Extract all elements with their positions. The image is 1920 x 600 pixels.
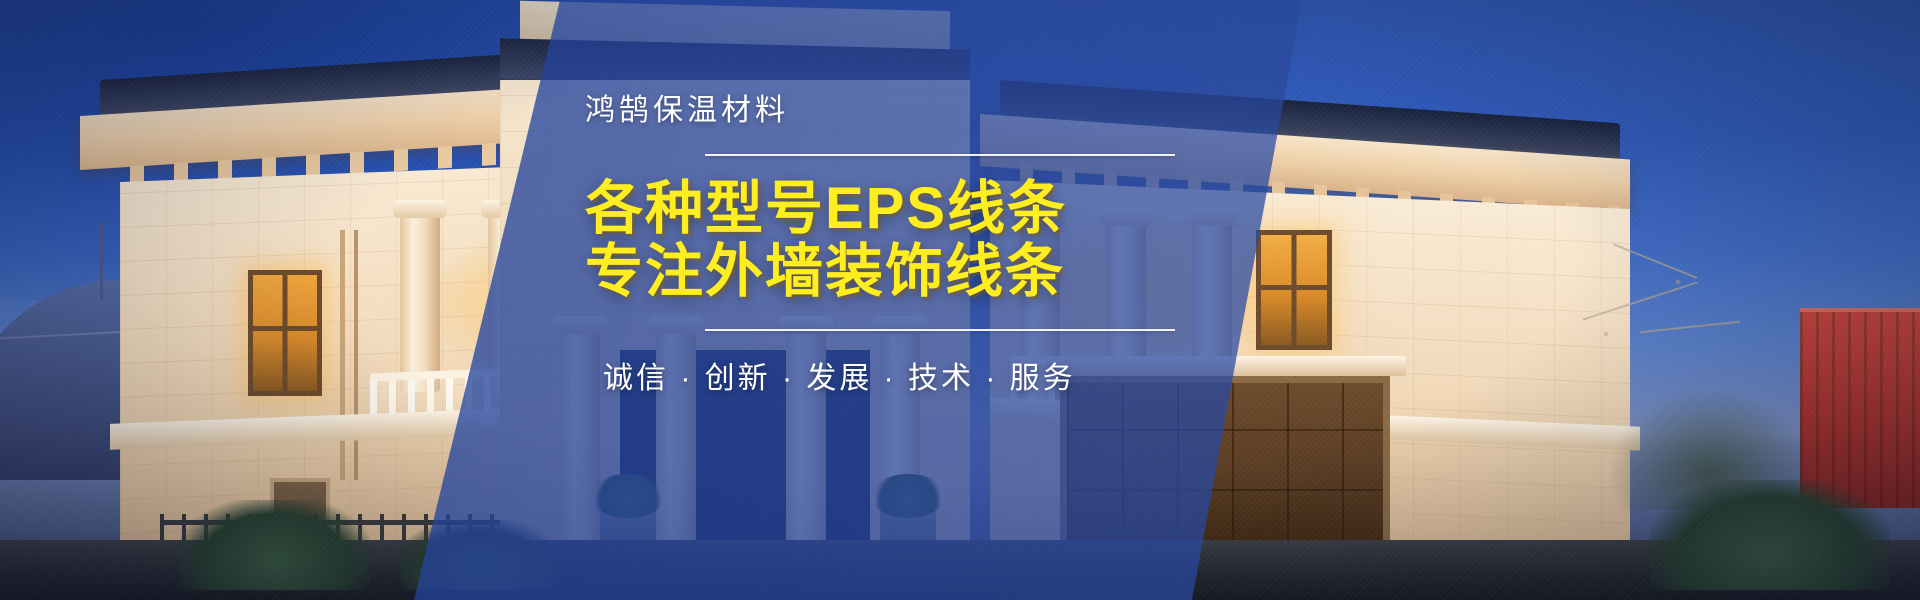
company-name: 鸿鹄保温材料 [585, 96, 1285, 126]
banner-text-block: 鸿鹄保温材料 各种型号EPS线条 专注外墙装饰线条 诚信 · 创新 · 发展 ·… [585, 96, 1285, 397]
divider-bottom [705, 329, 1175, 331]
divider-top [705, 154, 1175, 156]
tagline: 诚信 · 创新 · 发展 · 技术 · 服务 [603, 353, 1285, 397]
headline-line-1: 各种型号EPS线条 [585, 178, 1285, 241]
hero-banner: 鸿鹄保温材料 各种型号EPS线条 专注外墙装饰线条 诚信 · 创新 · 发展 ·… [0, 0, 1920, 600]
headline-line-2: 专注外墙装饰线条 [585, 241, 1285, 304]
headline: 各种型号EPS线条 专注外墙装饰线条 [585, 178, 1285, 303]
